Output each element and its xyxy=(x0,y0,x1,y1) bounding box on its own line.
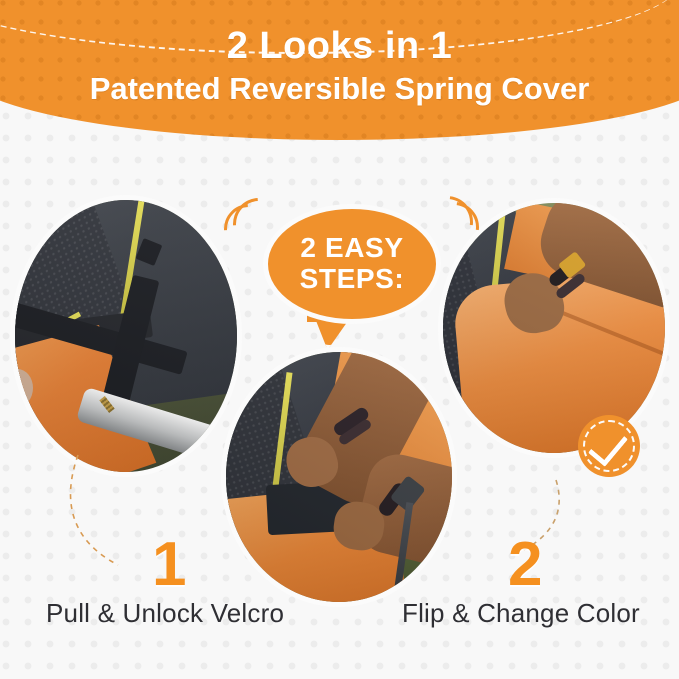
middle-photo xyxy=(226,352,452,602)
step-number-1: 1 xyxy=(152,534,186,596)
step-1-photo xyxy=(15,200,237,472)
header-text-block: 2 Looks in 1 Patented Reversible Spring … xyxy=(0,0,679,108)
check-icon xyxy=(588,425,628,467)
step-caption-1: Pull & Unlock Velcro xyxy=(46,598,284,629)
photo-2-shading xyxy=(226,352,452,602)
page-subtitle: Patented Reversible Spring Cover xyxy=(0,70,679,108)
step-caption-2: Flip & Change Color xyxy=(402,598,640,629)
check-badge xyxy=(578,415,640,477)
photo-3-shading xyxy=(443,203,665,453)
page-title: 2 Looks in 1 xyxy=(0,24,679,68)
bubble-line-1: 2 EASY xyxy=(300,233,403,263)
photo-1-shading xyxy=(15,200,237,472)
bubble-line-2: STEPS: xyxy=(300,263,405,295)
step-number-2: 2 xyxy=(508,534,542,596)
infographic-canvas: 2 Looks in 1 Patented Reversible Spring … xyxy=(0,0,679,679)
speech-bubble-group: 2 EASY STEPS: xyxy=(249,196,454,356)
step-2-photo xyxy=(443,203,665,453)
speech-bubble: 2 EASY STEPS: xyxy=(263,204,441,324)
photo-1-scene xyxy=(15,200,237,472)
photo-2-scene xyxy=(226,352,452,602)
photo-3-scene xyxy=(443,203,665,453)
